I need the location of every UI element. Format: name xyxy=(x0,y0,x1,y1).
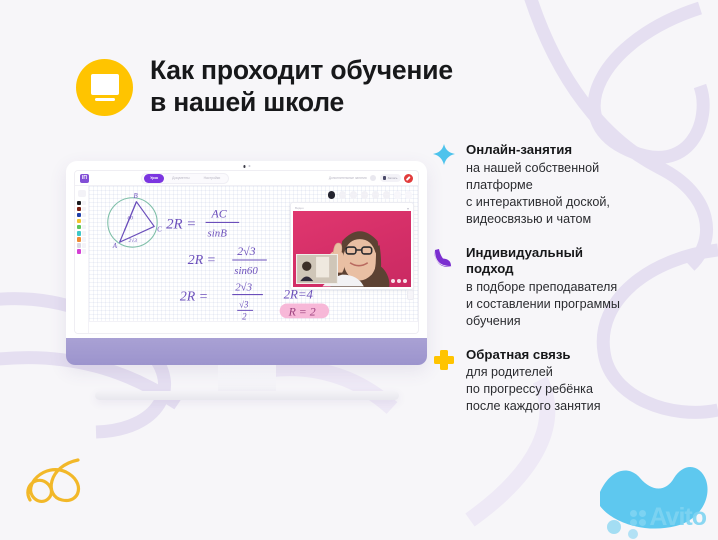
page-title: Как проходит обучение в нашей школе xyxy=(150,55,453,119)
monitor-screen-shape xyxy=(91,74,119,95)
monitor-neck xyxy=(218,365,276,391)
palette-row[interactable] xyxy=(77,201,87,206)
palette-row[interactable] xyxy=(77,249,87,254)
crescent-icon xyxy=(432,246,456,270)
feature-title: Обратная связь xyxy=(466,347,690,364)
monitor-bezel: ІП Урок Документы Настройки Дополнительн… xyxy=(66,161,427,365)
feature-text: Онлайн-занятия на нашей собственной плат… xyxy=(466,142,690,228)
dot xyxy=(397,279,401,283)
gear-icon[interactable] xyxy=(370,175,376,181)
add-icon[interactable] xyxy=(383,191,391,199)
video-feed xyxy=(293,211,411,287)
feature-individual-approach: Индивидуальный подход в подборе преподав… xyxy=(432,245,690,330)
palette-row[interactable] xyxy=(77,225,87,230)
panel-resize-handle[interactable] xyxy=(407,290,414,300)
eq2-num: 2√3 xyxy=(237,244,255,258)
text-icon[interactable] xyxy=(361,191,369,199)
eq3-lhs: 2R = xyxy=(180,289,208,304)
palette-row[interactable] xyxy=(77,213,87,218)
classroom-app: ІП Урок Документы Настройки Дополнительн… xyxy=(74,170,419,334)
swatch-cyan[interactable] xyxy=(77,231,82,236)
dot xyxy=(630,519,637,526)
monitor-mockup: ІП Урок Документы Настройки Дополнительн… xyxy=(66,161,427,400)
app-tabs: Урок Документы Настройки xyxy=(141,173,229,184)
whiteboard-footer xyxy=(89,321,418,334)
feature-description: в подборе преподавателя и составлении пр… xyxy=(466,279,690,330)
feature-description: для родителей по прогрессу ребёнка после… xyxy=(466,364,690,415)
avito-logo-icon xyxy=(630,510,646,526)
swatch-yellow[interactable] xyxy=(77,219,82,224)
pen-tool-icon[interactable] xyxy=(82,219,86,224)
chevron-down-icon[interactable]: ▾ xyxy=(407,206,409,211)
lock-icon[interactable] xyxy=(78,190,86,197)
swatch-black[interactable] xyxy=(77,201,82,206)
record-icon xyxy=(383,176,387,180)
feature-text: Обратная связь для родителей по прогресс… xyxy=(466,347,690,416)
avito-watermark: Avito xyxy=(630,503,706,532)
eq3-num: 2√3 xyxy=(235,282,252,294)
monitor-chin xyxy=(66,338,427,365)
eq1-lhs: 2R = xyxy=(166,216,196,232)
app-toolbar-right: Дополнительные занятия Запись xyxy=(329,174,413,183)
feature-text: Индивидуальный подход в подборе преподав… xyxy=(466,245,690,330)
monitor-stand-shape xyxy=(95,98,115,101)
eq2-lhs: 2R = xyxy=(188,252,216,267)
webcam-led-icon xyxy=(248,165,250,167)
video-panel-label: Видео xyxy=(295,206,304,210)
eq3-den-den: 2 xyxy=(242,311,247,321)
tab-documents[interactable]: Документы xyxy=(166,174,195,183)
feature-description: на нашей собственной платформе с интерак… xyxy=(466,160,690,228)
swatch-magenta[interactable] xyxy=(77,249,82,254)
video-options-icon[interactable] xyxy=(391,279,407,283)
monitor-icon-badge xyxy=(76,59,133,116)
webcam-lens-icon xyxy=(243,165,246,168)
palette-row[interactable] xyxy=(77,231,87,236)
eraser-icon[interactable] xyxy=(350,191,358,199)
pen-tool-icon[interactable] xyxy=(82,225,86,230)
result-r: R = 2 xyxy=(288,304,316,318)
app-logo-icon[interactable]: ІП xyxy=(80,174,89,183)
feature-feedback: Обратная связь для родителей по прогресс… xyxy=(432,347,690,416)
monitor-base xyxy=(95,391,399,400)
triangle-abc xyxy=(120,202,155,243)
plus-icon xyxy=(432,348,456,372)
star-icon-svg xyxy=(432,143,456,167)
pen-tool-icon[interactable] xyxy=(82,207,86,212)
dot xyxy=(630,510,637,517)
pen-tool-icon[interactable] xyxy=(82,231,86,236)
eq2-den: sin60 xyxy=(234,265,258,277)
lesson-name-label: Дополнительные занятия xyxy=(329,176,367,180)
app-body: B A C 60 2√3 2R = AC sinB xyxy=(75,186,418,334)
record-label: Запись xyxy=(388,176,398,180)
palette-row[interactable] xyxy=(77,237,87,242)
dot xyxy=(403,279,407,283)
phone-hangup-icon xyxy=(406,176,411,181)
video-call-panel[interactable]: Видео ▾ xyxy=(290,202,414,290)
yellow-squiggle xyxy=(28,460,79,501)
star-icon xyxy=(432,143,456,167)
palette-row[interactable] xyxy=(77,243,87,248)
whiteboard-canvas[interactable]: B A C 60 2√3 2R = AC sinB xyxy=(89,186,418,334)
pen-tool-icon[interactable] xyxy=(82,249,86,254)
monitor-icon xyxy=(91,74,119,101)
pen-icon[interactable] xyxy=(328,191,336,199)
dot xyxy=(639,519,646,526)
eq1-num: AC xyxy=(211,207,228,221)
swatch-dark-red[interactable] xyxy=(77,207,82,212)
pen-tool-icon[interactable] xyxy=(82,213,86,218)
color-palette-sidebar xyxy=(75,186,89,334)
feature-online-lessons: Онлайн-занятия на нашей собственной плат… xyxy=(432,142,690,228)
eq1-den: sinB xyxy=(208,227,228,239)
pip-figure xyxy=(297,255,337,283)
shapes-icon[interactable] xyxy=(339,191,347,199)
vertex-label-c: C xyxy=(157,226,162,233)
swatch-orange[interactable] xyxy=(77,237,82,242)
plus-icon-svg xyxy=(432,348,456,372)
side-label-2sqrt3: 2√3 xyxy=(129,237,138,244)
redo-icon[interactable] xyxy=(405,191,413,199)
end-call-button[interactable] xyxy=(404,174,413,183)
swatch-gray[interactable] xyxy=(77,243,82,248)
avito-wordmark: Avito xyxy=(649,503,706,532)
angle-label-60: 60 xyxy=(128,215,134,221)
feature-title: Индивидуальный подход xyxy=(466,245,690,278)
swatch-blue[interactable] xyxy=(77,213,82,218)
pen-tool-icon[interactable] xyxy=(82,237,86,242)
pip-second-participant[interactable] xyxy=(296,254,338,284)
whiteboard-tools xyxy=(328,191,413,199)
pen-tool-icon[interactable] xyxy=(82,243,86,248)
swatch-green[interactable] xyxy=(77,225,82,230)
dot xyxy=(391,279,395,283)
blob-dot-1 xyxy=(607,520,621,534)
pen-tool-icon[interactable] xyxy=(82,201,86,206)
app-toolbar: ІП Урок Документы Настройки Дополнительн… xyxy=(75,171,418,186)
eq3-den-num: √3 xyxy=(239,299,249,309)
palette-row[interactable] xyxy=(77,207,87,212)
thumb xyxy=(333,243,341,253)
undo-icon[interactable] xyxy=(394,191,402,199)
image-icon[interactable] xyxy=(372,191,380,199)
feature-list: Онлайн-занятия на нашей собственной плат… xyxy=(432,142,690,432)
crescent-icon-svg xyxy=(432,246,456,270)
page-header: Как проходит обучение в нашей школе xyxy=(76,55,453,119)
pip-head xyxy=(302,262,311,271)
webcam-dots xyxy=(243,165,250,168)
vertex-label-a: A xyxy=(112,243,118,250)
tab-settings[interactable]: Настройки xyxy=(198,174,227,183)
record-button[interactable]: Запись xyxy=(380,174,401,182)
door xyxy=(316,257,329,278)
tab-lesson[interactable]: Урок xyxy=(144,174,164,183)
dot xyxy=(639,510,646,517)
palette-row[interactable] xyxy=(77,219,87,224)
feature-title: Онлайн-занятия xyxy=(466,142,690,159)
